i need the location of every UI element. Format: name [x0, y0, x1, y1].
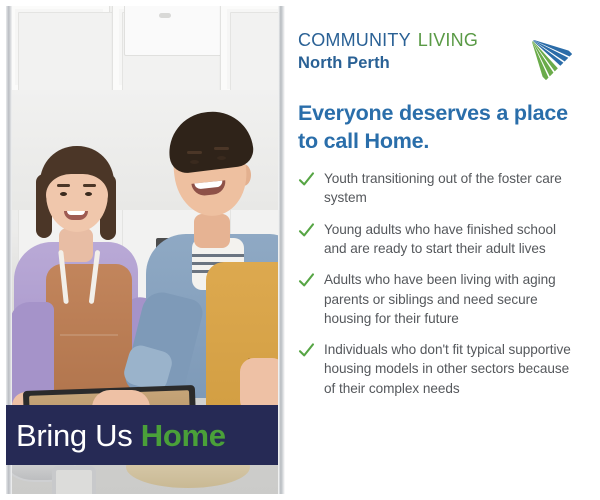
- person-left-hair: [40, 146, 114, 208]
- page-title: Everyone deserves a place to call Home.: [298, 100, 572, 155]
- banner-text-white: Bring Us: [16, 418, 132, 453]
- check-icon: [298, 171, 315, 188]
- brand-wordmark-group: Community Living North Perth: [298, 26, 522, 73]
- person-left-brow-2: [83, 184, 96, 187]
- brand-word-living: Living: [418, 26, 478, 51]
- brand-locality: North Perth: [298, 54, 522, 73]
- range-hood-icon: [124, 6, 222, 56]
- poster-canvas: Bring Us Home Community Living North Per…: [0, 0, 600, 500]
- list-item-label: Individuals who don't fit typical suppor…: [324, 340, 572, 398]
- person-right-neck: [194, 214, 230, 248]
- person-right-eye-1: [190, 160, 199, 164]
- brand-word-community: Community: [298, 26, 411, 51]
- person-left-eye-2: [85, 192, 92, 196]
- diamond-rays-logo-icon: [520, 28, 572, 80]
- person-right-brow-1: [187, 151, 202, 154]
- check-icon: [298, 222, 315, 239]
- banner-text: Bring Us Home: [6, 420, 226, 451]
- list-item-label: Young adults who have finished school an…: [324, 220, 572, 259]
- cabinet-right-icon: [220, 6, 278, 96]
- panel-divider: [278, 6, 285, 494]
- list-item: Youth transitioning out of the foster ca…: [298, 169, 572, 208]
- check-icon: [298, 272, 315, 289]
- person-left-eye-1: [60, 192, 67, 196]
- list-item-label: Youth transitioning out of the foster ca…: [324, 169, 572, 208]
- content-panel: Community Living North Perth: [285, 6, 594, 494]
- person-left-brow-1: [57, 184, 70, 187]
- banner-text-green: Home: [141, 418, 226, 453]
- list-item: Young adults who have finished school an…: [298, 220, 572, 259]
- list-item-label: Adults who have been living with aging p…: [324, 270, 572, 328]
- benefits-list: Youth transitioning out of the foster ca…: [298, 169, 572, 398]
- cabinet-left-icon: [8, 6, 110, 92]
- person-left-neck: [59, 228, 93, 262]
- list-item: Adults who have been living with aging p…: [298, 270, 572, 328]
- brand-logo: Community Living North Perth: [298, 26, 572, 80]
- check-icon: [298, 342, 315, 359]
- brand-wordmark: Community Living: [298, 26, 522, 51]
- list-item: Individuals who don't fit typical suppor…: [298, 340, 572, 398]
- bring-us-home-banner: Bring Us Home: [6, 405, 278, 465]
- cookie-cutter-icon: [52, 466, 96, 494]
- person-right-eye-2: [217, 156, 226, 160]
- person-right-brow-2: [214, 147, 229, 150]
